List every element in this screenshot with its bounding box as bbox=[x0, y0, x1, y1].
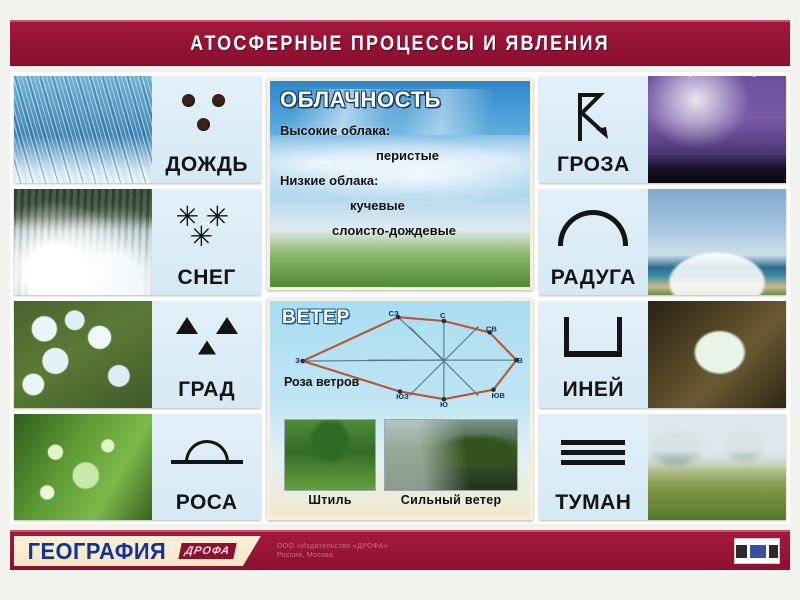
wind-panel-title: ВЕТЕР bbox=[282, 307, 350, 329]
clouds-panel[interactable]: ОБЛАЧНОСТЬ Высокие облака: перистые Низк… bbox=[267, 78, 533, 290]
symbol-card-fog[interactable]: ТУМАН bbox=[539, 414, 786, 521]
photo-strong-wind bbox=[384, 419, 518, 491]
frost-bracket-icon bbox=[539, 301, 648, 379]
wind-photo-row: Штиль Сильный ветер bbox=[276, 419, 524, 507]
clouds-high-label: Высокие облака: bbox=[280, 123, 520, 138]
symbol-block-rainbow: РАДУГА bbox=[539, 189, 648, 296]
brand-title: ГЕОГРАФИЯ bbox=[28, 538, 167, 565]
photo-rain bbox=[14, 76, 152, 183]
right-symbol-column: ГРОЗА РАДУГА ИНЕЙ bbox=[539, 76, 786, 520]
photo-hail bbox=[14, 301, 152, 408]
photo-thunderstorm bbox=[648, 76, 786, 183]
symbol-label-thunderstorm: ГРОЗА bbox=[557, 154, 630, 180]
symbol-block-dew: РОСА bbox=[152, 414, 261, 521]
footer-fine-print: ООО «Издательство «ДРОФА» Россия, Москва bbox=[277, 542, 388, 561]
clouds-low-value-2: слоисто-дождевые bbox=[332, 223, 520, 238]
photo-dew bbox=[14, 414, 152, 521]
symbol-block-rain: ДОЖДЬ bbox=[152, 76, 261, 183]
left-symbol-column: ДОЖДЬ ✳✳✳ СНЕГ ГРАД bbox=[14, 76, 261, 520]
wind-panel[interactable]: ВЕТЕР Роза ветров bbox=[267, 298, 533, 520]
symbol-card-snow[interactable]: ✳✳✳ СНЕГ bbox=[14, 189, 261, 296]
symbol-label-fog: ТУМАН bbox=[555, 492, 631, 518]
symbol-block-snow: ✳✳✳ СНЕГ bbox=[152, 189, 261, 296]
symbol-label-dew: РОСА bbox=[176, 492, 238, 518]
poster-body: ДОЖДЬ ✳✳✳ СНЕГ ГРАД bbox=[10, 72, 790, 524]
photo-rainbow bbox=[648, 189, 786, 296]
svg-text:ЮЗ: ЮЗ bbox=[396, 392, 409, 401]
symbol-card-hail[interactable]: ГРАД bbox=[14, 301, 261, 408]
photo-fog bbox=[648, 414, 786, 521]
center-column: ОБЛАЧНОСТЬ Высокие облака: перистые Низк… bbox=[267, 76, 533, 520]
poster-root: АТОСФЕРНЫЕ ПРОЦЕССЫ И ЯВЛЕНИЯ ДОЖДЬ ✳✳✳ bbox=[0, 0, 800, 600]
photo-snow bbox=[14, 189, 152, 296]
symbol-block-fog: ТУМАН bbox=[539, 414, 648, 521]
poster-header: АТОСФЕРНЫЕ ПРОЦЕССЫ И ЯВЛЕНИЯ bbox=[10, 20, 790, 66]
footer-fine-line-2: Россия, Москва bbox=[277, 551, 388, 560]
symbol-label-hail: ГРАД bbox=[178, 379, 235, 405]
badge-icon-left bbox=[736, 545, 747, 558]
symbol-label-frost: ИНЕЙ bbox=[563, 379, 624, 405]
dew-dome-icon bbox=[152, 414, 261, 492]
symbol-card-dew[interactable]: РОСА bbox=[14, 414, 261, 521]
caption-strong-wind: Сильный ветер bbox=[401, 493, 502, 507]
photo-frost bbox=[648, 301, 786, 408]
snow-asterisks-icon: ✳✳✳ bbox=[152, 189, 261, 267]
clouds-high-value: перистые bbox=[376, 148, 520, 163]
symbol-block-frost: ИНЕЙ bbox=[539, 301, 648, 408]
publisher-logo: ДРОФА bbox=[178, 543, 236, 559]
symbol-card-frost[interactable]: ИНЕЙ bbox=[539, 301, 786, 408]
symbol-label-rain: ДОЖДЬ bbox=[165, 154, 248, 180]
photo-calm bbox=[284, 419, 376, 491]
svg-text:С: С bbox=[440, 311, 446, 320]
footer-fine-line-1: ООО «Издательство «ДРОФА» bbox=[277, 542, 388, 551]
symbol-card-rainbow[interactable]: РАДУГА bbox=[539, 189, 786, 296]
svg-text:ЮВ: ЮВ bbox=[492, 391, 506, 400]
symbol-card-thunderstorm[interactable]: ГРОЗА bbox=[539, 76, 786, 183]
caption-calm: Штиль bbox=[308, 493, 352, 507]
rain-dots-icon bbox=[152, 76, 261, 154]
badge-icon-center bbox=[750, 545, 766, 558]
badge-icon-right bbox=[769, 545, 778, 558]
poster-footer: ГЕОГРАФИЯ ДРОФА ООО «Издательство «ДРОФА… bbox=[10, 530, 790, 570]
symbol-label-rainbow: РАДУГА bbox=[551, 267, 636, 293]
wind-photo-strong: Сильный ветер bbox=[384, 419, 518, 507]
certification-badge bbox=[734, 538, 780, 564]
hail-triangles-icon bbox=[152, 301, 261, 379]
fog-bars-icon bbox=[539, 414, 648, 492]
clouds-low-label: Низкие облака: bbox=[280, 173, 520, 188]
clouds-panel-title: ОБЛАЧНОСТЬ bbox=[280, 87, 520, 113]
thunderstorm-lightning-icon bbox=[539, 76, 648, 154]
symbol-card-rain[interactable]: ДОЖДЬ bbox=[14, 76, 261, 183]
symbol-label-snow: СНЕГ bbox=[178, 267, 236, 293]
page-title: АТОСФЕРНЫЕ ПРОЦЕССЫ И ЯВЛЕНИЯ bbox=[190, 32, 610, 56]
symbol-block-thunderstorm: ГРОЗА bbox=[539, 76, 648, 183]
clouds-low-value-1: кучевые bbox=[350, 198, 520, 213]
wind-photo-calm: Штиль bbox=[284, 419, 376, 507]
rainbow-arc-icon bbox=[539, 189, 648, 267]
svg-text:З: З bbox=[295, 356, 300, 365]
symbol-block-hail: ГРАД bbox=[152, 301, 261, 408]
brand-plate: ГЕОГРАФИЯ ДРОФА bbox=[14, 536, 261, 566]
wind-rose-label: Роза ветров bbox=[284, 375, 359, 389]
